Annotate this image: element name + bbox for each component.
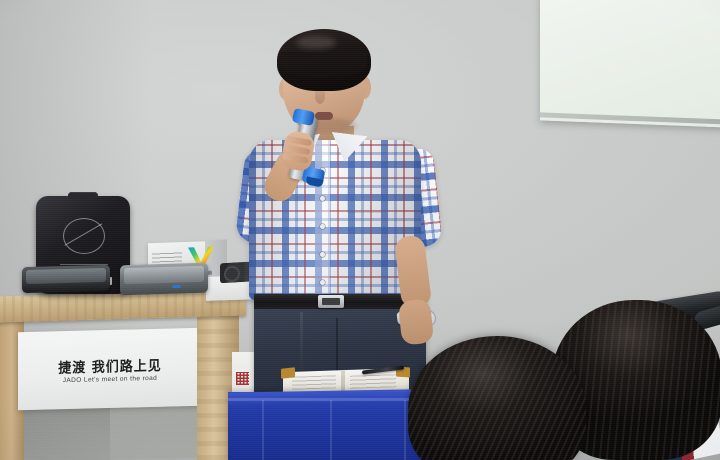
dashcam-mirror-silver-glass — [124, 266, 204, 285]
shirt-button — [320, 252, 325, 257]
banner-chinese-character — [236, 372, 249, 385]
tablecloth-fold — [330, 400, 332, 460]
shirt-pocket — [347, 186, 382, 213]
presenter-hair-fringe — [281, 52, 367, 78]
tablecloth-fold — [262, 400, 264, 460]
presenter-hand-right — [398, 298, 434, 345]
dashcam-mirror-dark-glass — [26, 268, 106, 284]
shirt-button — [320, 280, 325, 285]
shirt-button — [320, 224, 325, 229]
shirt-placket — [315, 140, 330, 300]
podium-brand-sign: 捷渡 我们路上见 JADO Let's meet on the road — [18, 328, 202, 410]
finger — [282, 153, 309, 163]
sign-chinese-text: 捷渡 我们路上见 — [58, 353, 162, 376]
tablecloth-fold — [404, 400, 406, 460]
photo-scene: 捷渡 我们路上见 JADO Let's meet on the road — [0, 0, 720, 460]
dashcam-led-indicator — [172, 285, 181, 288]
circle-slash-icon — [63, 218, 105, 254]
notebook-text-right — [350, 374, 396, 389]
projection-screen — [540, 0, 720, 128]
trousers-fly — [336, 318, 338, 372]
carry-case-handle — [68, 192, 98, 199]
belt-buckle-inner — [322, 298, 340, 305]
shirt-button — [320, 196, 325, 201]
presenter-hair-highlight — [296, 36, 336, 49]
notebook-text-left — [292, 375, 336, 390]
